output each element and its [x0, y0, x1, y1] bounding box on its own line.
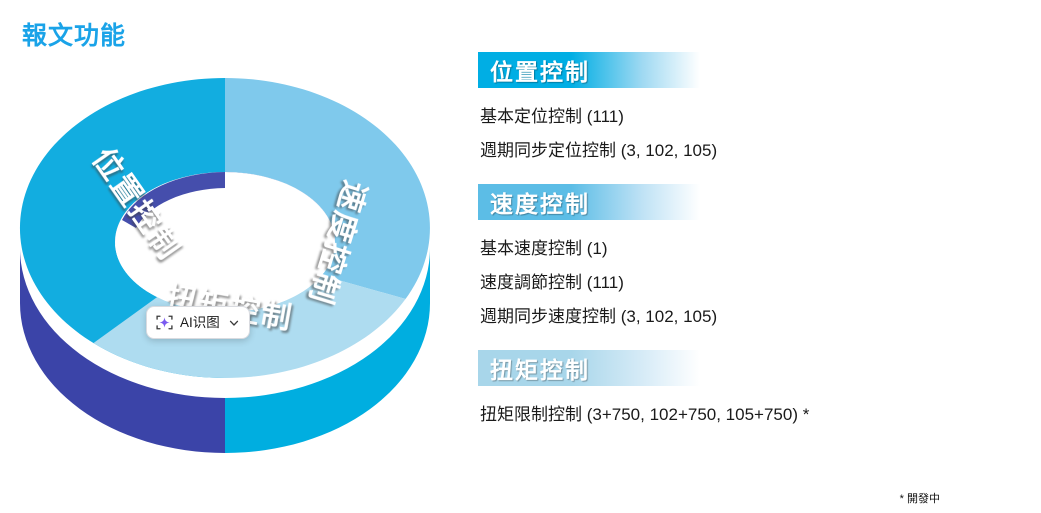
- section-position-control: 位置控制 基本定位控制 (111) 週期同步定位控制 (3, 102, 105): [478, 52, 1018, 184]
- list-item: 週期同步定位控制 (3, 102, 105): [480, 134, 1018, 168]
- donut-svg: 位置控制 速度控制 扭矩控制: [10, 60, 440, 460]
- footnote: * 開發中: [478, 490, 940, 506]
- section-heading-label: 速度控制: [490, 185, 590, 219]
- list-item: 基本定位控制 (111): [480, 100, 1018, 134]
- section-items-torque: 扭矩限制控制 (3+750, 102+750, 105+750) *: [478, 392, 1018, 448]
- section-heading-label: 位置控制: [490, 53, 590, 87]
- section-heading-torque: 扭矩控制: [478, 350, 700, 386]
- list-item: 扭矩限制控制 (3+750, 102+750, 105+750) *: [480, 398, 1018, 432]
- list-item: 速度調節控制 (111): [480, 266, 1018, 300]
- ai-recognize-button[interactable]: AI识图: [146, 306, 250, 339]
- section-torque-control: 扭矩控制 扭矩限制控制 (3+750, 102+750, 105+750) *: [478, 350, 1018, 448]
- list-item: 基本速度控制 (1): [480, 232, 1018, 266]
- scan-sparkle-icon: [155, 313, 174, 332]
- section-items-position: 基本定位控制 (111) 週期同步定位控制 (3, 102, 105): [478, 94, 1018, 184]
- section-items-speed: 基本速度控制 (1) 速度調節控制 (111) 週期同步速度控制 (3, 102…: [478, 226, 1018, 350]
- page-title: 報文功能: [22, 16, 126, 52]
- donut-diagram: 位置控制 速度控制 扭矩控制: [10, 60, 440, 460]
- chevron-down-icon[interactable]: [228, 317, 240, 329]
- section-heading-speed: 速度控制: [478, 184, 700, 220]
- list-item: 週期同步速度控制 (3, 102, 105): [480, 300, 1018, 334]
- section-heading-position: 位置控制: [478, 52, 700, 88]
- section-heading-label: 扭矩控制: [490, 351, 590, 385]
- ai-recognize-label: AI识图: [180, 316, 220, 330]
- section-speed-control: 速度控制 基本速度控制 (1) 速度調節控制 (111) 週期同步速度控制 (3…: [478, 184, 1018, 350]
- content-column: 位置控制 基本定位控制 (111) 週期同步定位控制 (3, 102, 105)…: [478, 52, 1018, 448]
